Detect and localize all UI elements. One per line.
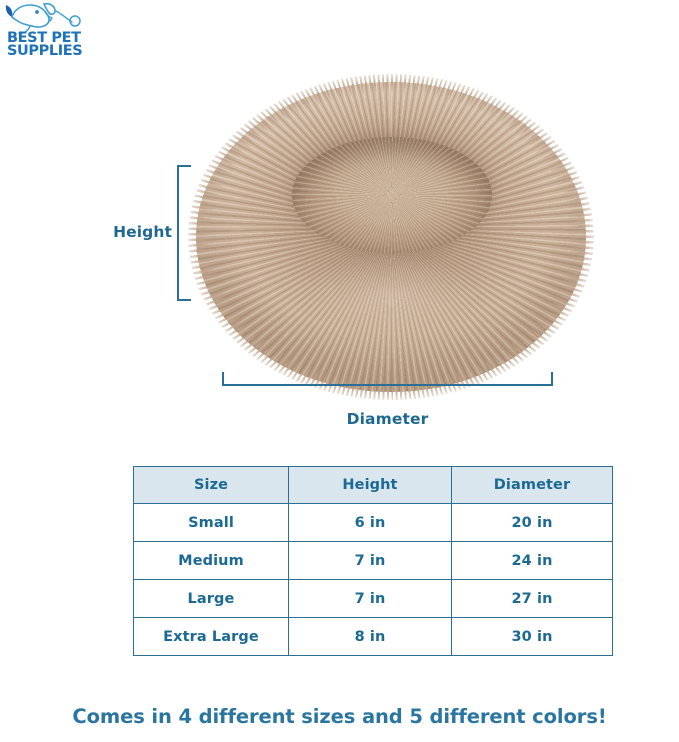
- cell-height: 7 in: [289, 542, 452, 580]
- brand-logo: BEST PET SUPPLIES: [4, 2, 90, 68]
- cell-size: Small: [134, 504, 289, 542]
- cell-size: Extra Large: [134, 618, 289, 656]
- table-row: Large 7 in 27 in: [134, 580, 613, 618]
- cell-height: 6 in: [289, 504, 452, 542]
- cell-diameter: 27 in: [452, 580, 613, 618]
- table-row: Medium 7 in 24 in: [134, 542, 613, 580]
- brand-wordmark: BEST PET SUPPLIES: [7, 32, 89, 58]
- size-chart-table: Size Height Diameter Small 6 in 20 in Me…: [133, 466, 613, 656]
- plush-donut-pet-bed-image: [196, 82, 586, 392]
- bed-front-highlight: [266, 247, 516, 367]
- height-bracket-icon: [177, 165, 191, 301]
- column-header-height: Height: [289, 467, 452, 504]
- brand-wordmark-line2: SUPPLIES: [7, 45, 89, 58]
- bed-outer-rim: [196, 82, 586, 392]
- table-row: Extra Large 8 in 30 in: [134, 618, 613, 656]
- cell-height: 7 in: [289, 580, 452, 618]
- diameter-callout-label: Diameter: [222, 410, 553, 428]
- tagline-text: Comes in 4 different sizes and 5 differe…: [0, 705, 679, 728]
- column-header-size: Size: [134, 467, 289, 504]
- cell-diameter: 30 in: [452, 618, 613, 656]
- bed-inner-fur-strands: [292, 137, 492, 253]
- diameter-bracket-icon: [222, 372, 553, 386]
- cell-size: Medium: [134, 542, 289, 580]
- bed-inner-well: [292, 137, 492, 253]
- cell-diameter: 24 in: [452, 542, 613, 580]
- height-callout-label: Height: [96, 223, 172, 241]
- product-illustration-area: Height Diameter: [0, 70, 679, 450]
- cell-height: 8 in: [289, 618, 452, 656]
- cell-size: Large: [134, 580, 289, 618]
- table-header-row: Size Height Diameter: [134, 467, 613, 504]
- table-row: Small 6 in 20 in: [134, 504, 613, 542]
- column-header-diameter: Diameter: [452, 467, 613, 504]
- cell-diameter: 20 in: [452, 504, 613, 542]
